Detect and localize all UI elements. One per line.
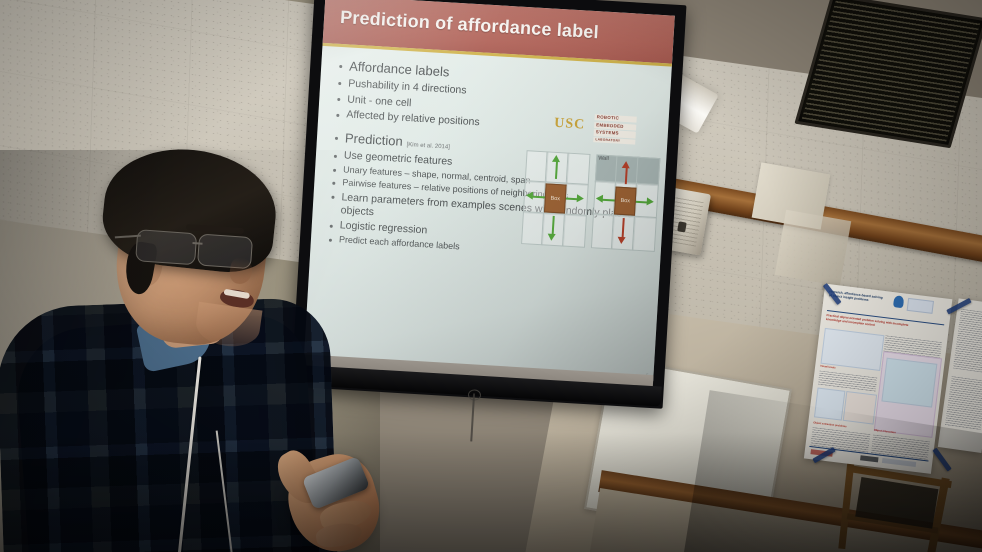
vent-mesh bbox=[802, 1, 980, 142]
research-poster: research, affordance-based solvingof obj… bbox=[804, 284, 952, 474]
citation: [Kim et al. 2014] bbox=[406, 142, 450, 151]
wall-panel-secondary bbox=[775, 210, 851, 286]
poster-footer-logo-2 bbox=[860, 455, 878, 462]
lab-logo-line: LABORATORY bbox=[593, 137, 635, 145]
ceiling-air-vent-icon bbox=[794, 0, 982, 148]
usc-logo: USC bbox=[554, 116, 586, 134]
free-box-grid: Box bbox=[521, 150, 588, 246]
wall-label: Wall bbox=[598, 155, 609, 162]
poster-figure-3 bbox=[814, 387, 845, 420]
poster-section-heading-1: Visual levels bbox=[820, 365, 836, 370]
box-label: Box bbox=[614, 187, 637, 216]
presenter bbox=[0, 150, 390, 552]
photo-scene: research, affordance-based solvingof obj… bbox=[0, 0, 982, 552]
poster-figure-2 bbox=[881, 358, 937, 408]
robotic-embedded-systems-lab-logo: ROBOTIC EMBEDDED SYSTEMS LABORATORY bbox=[593, 114, 637, 150]
box-label: Box bbox=[544, 183, 567, 213]
screen-pull-cord[interactable] bbox=[470, 393, 474, 441]
poster-figure-4 bbox=[843, 391, 877, 425]
poster-figure-1 bbox=[821, 328, 885, 371]
poster-footer-logo-3 bbox=[882, 458, 916, 467]
research-poster-group: research, affordance-based solvingof obj… bbox=[789, 273, 981, 486]
walled-box-grid: Wall bbox=[591, 154, 658, 250]
affordance-diagram: Box Wall bbox=[521, 150, 658, 252]
glasses-lens-left bbox=[135, 229, 197, 265]
tape-bottom-right bbox=[932, 448, 951, 472]
